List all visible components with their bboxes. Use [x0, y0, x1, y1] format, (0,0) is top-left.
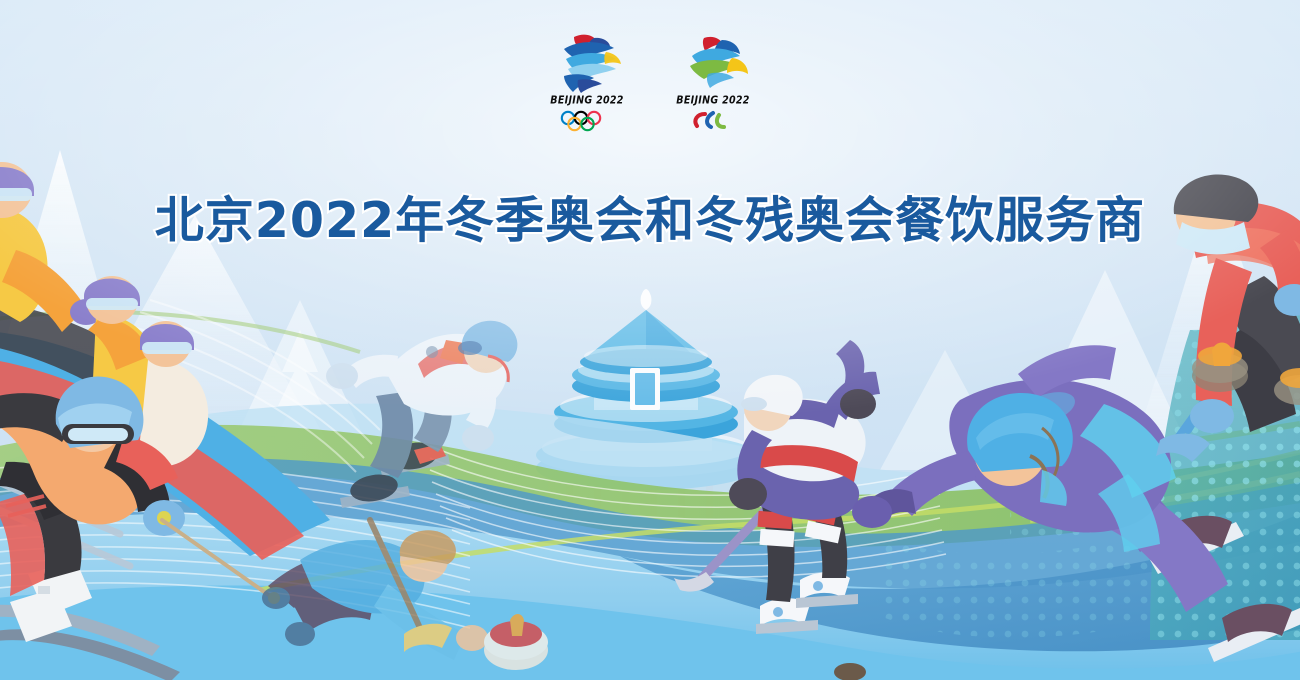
olympic-emblem: BEIJING 2022 [544, 32, 630, 132]
olympic-rings-icon [557, 110, 617, 132]
paralympic-emblem: BEIJING 2022 [670, 32, 756, 132]
beijing-2022-banner: BEIJING 2022 BEIJING 20 [0, 0, 1300, 680]
fei-ribbon-icon [670, 32, 756, 94]
agitos-icon [683, 110, 743, 132]
emblem-group: BEIJING 2022 BEIJING 20 [0, 32, 1300, 132]
page-title: 北京2022年冬季奥会和冬残奥会餐饮服务商 [155, 181, 1145, 252]
title-container: 北京2022年冬季奥会和冬残奥会餐饮服务商 [0, 148, 1300, 285]
paralympic-wordmark: BEIJING 2022 [676, 94, 749, 107]
olympic-wordmark: BEIJING 2022 [550, 94, 623, 107]
dong-ribbon-icon [544, 32, 630, 94]
